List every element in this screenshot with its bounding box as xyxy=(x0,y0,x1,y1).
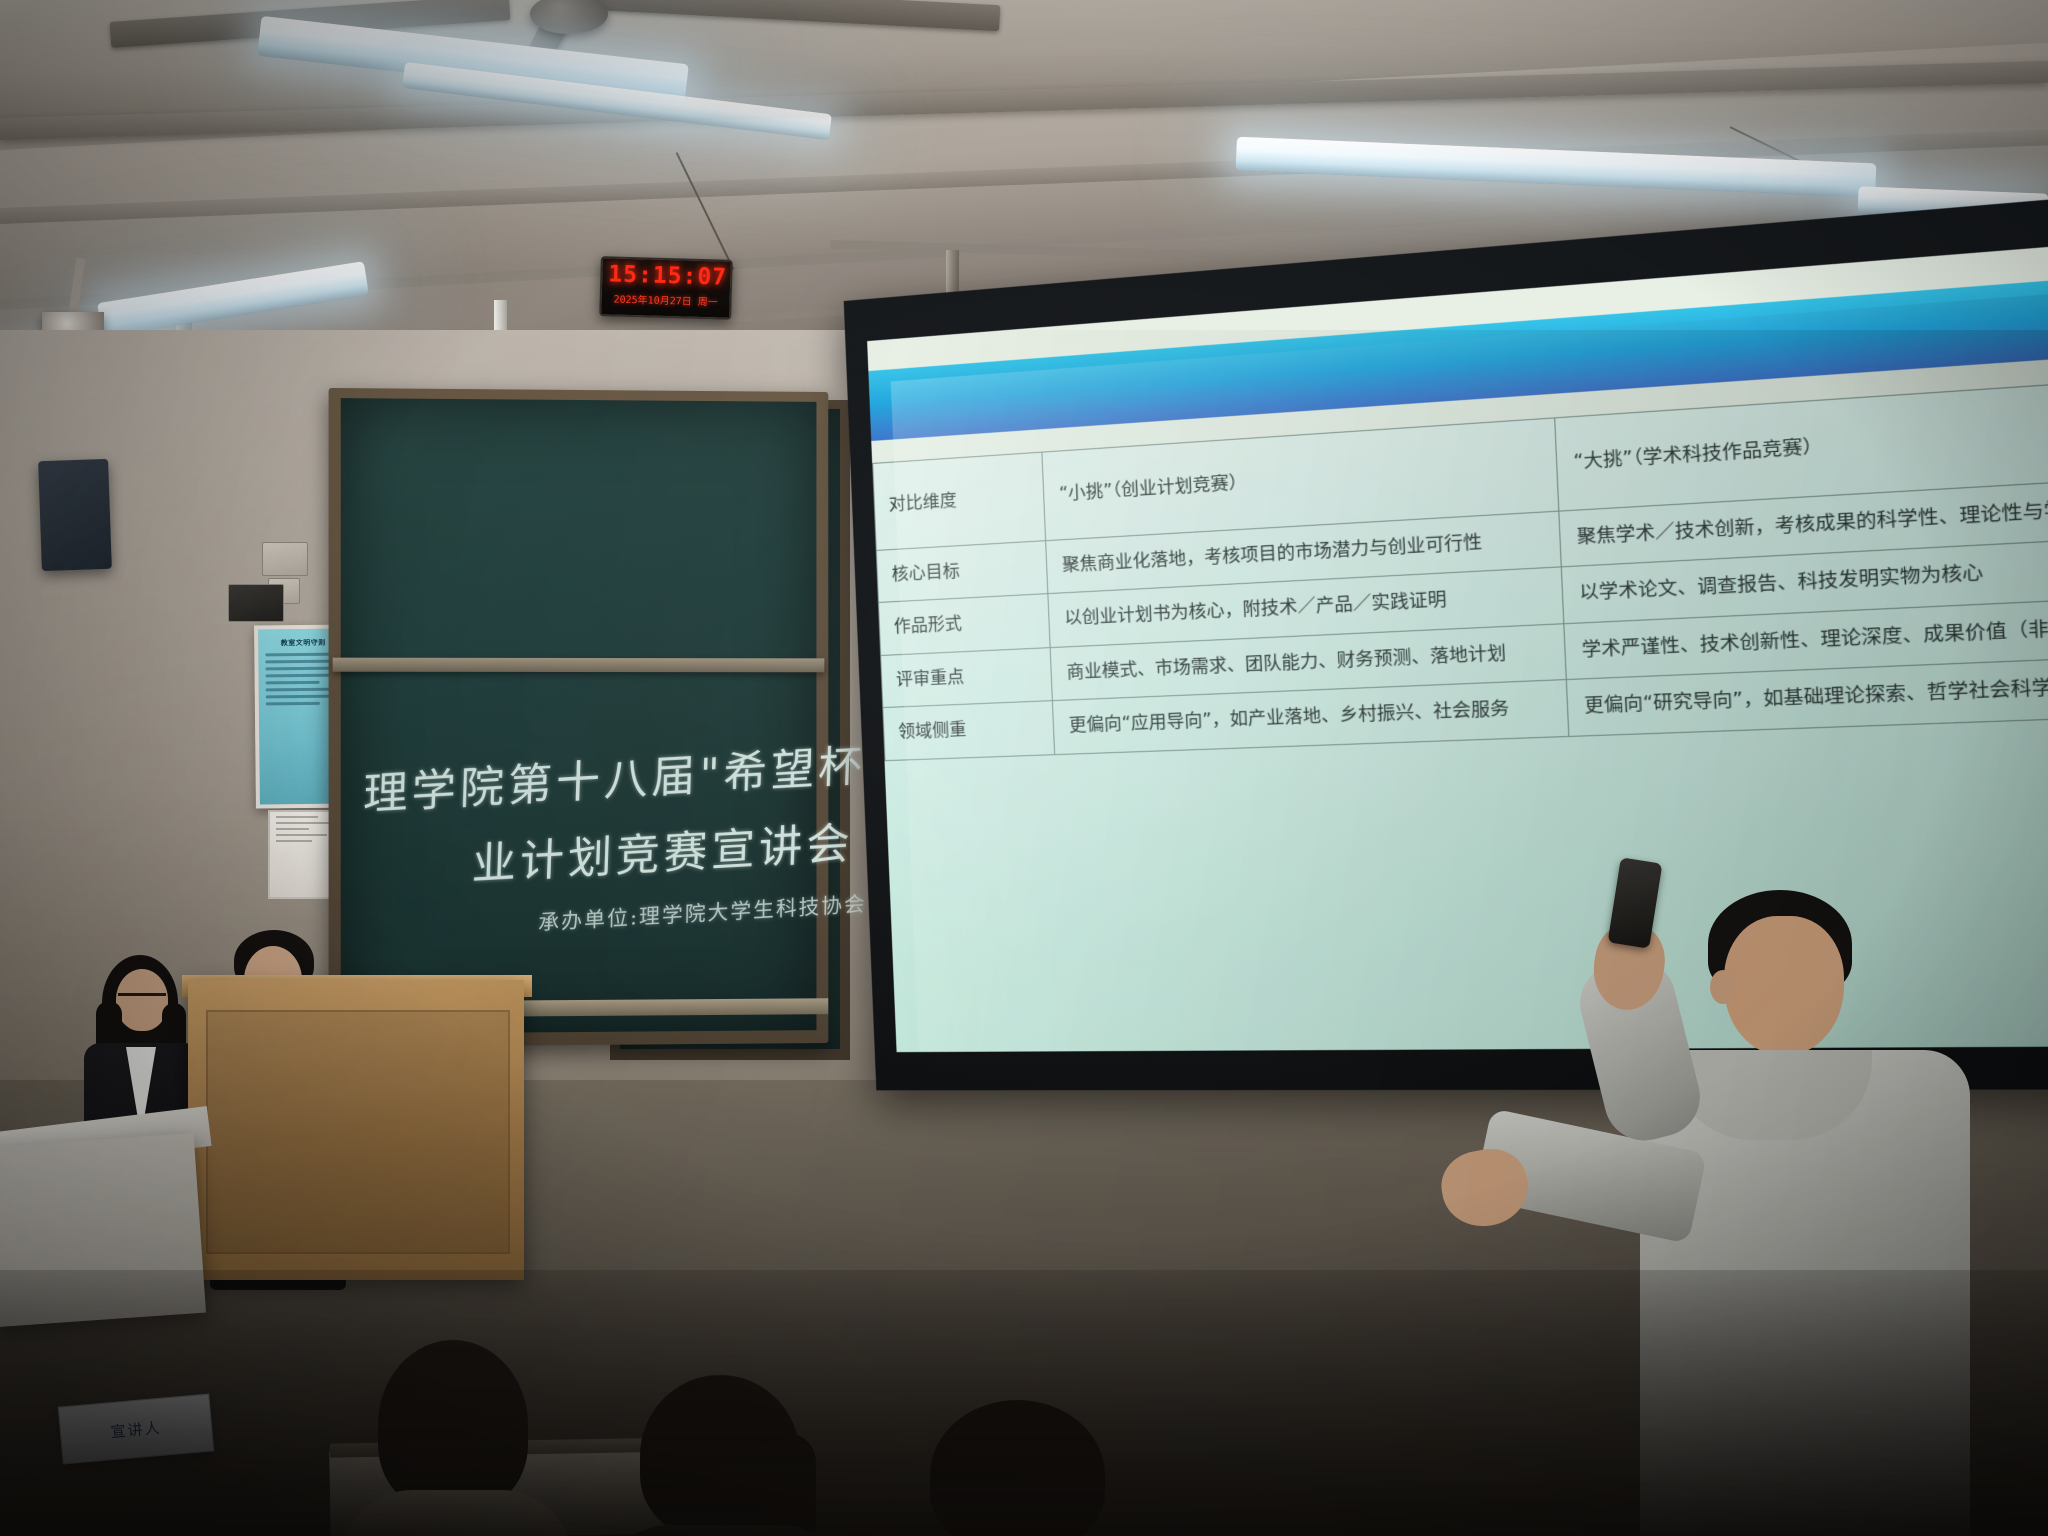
fan-blade xyxy=(570,0,1001,31)
led-wall-clock: 15:15:07 2025年10月27日 周一 xyxy=(599,256,733,320)
clock-time: 15:15:07 xyxy=(608,261,725,290)
classroom-photo: 15:15:07 2025年10月27日 周一 教室文明守则 理学院第十八届"希… xyxy=(0,0,2048,1536)
clock-date: 2025年10月27日 周一 xyxy=(605,290,725,308)
scene-shading xyxy=(0,330,2048,1536)
